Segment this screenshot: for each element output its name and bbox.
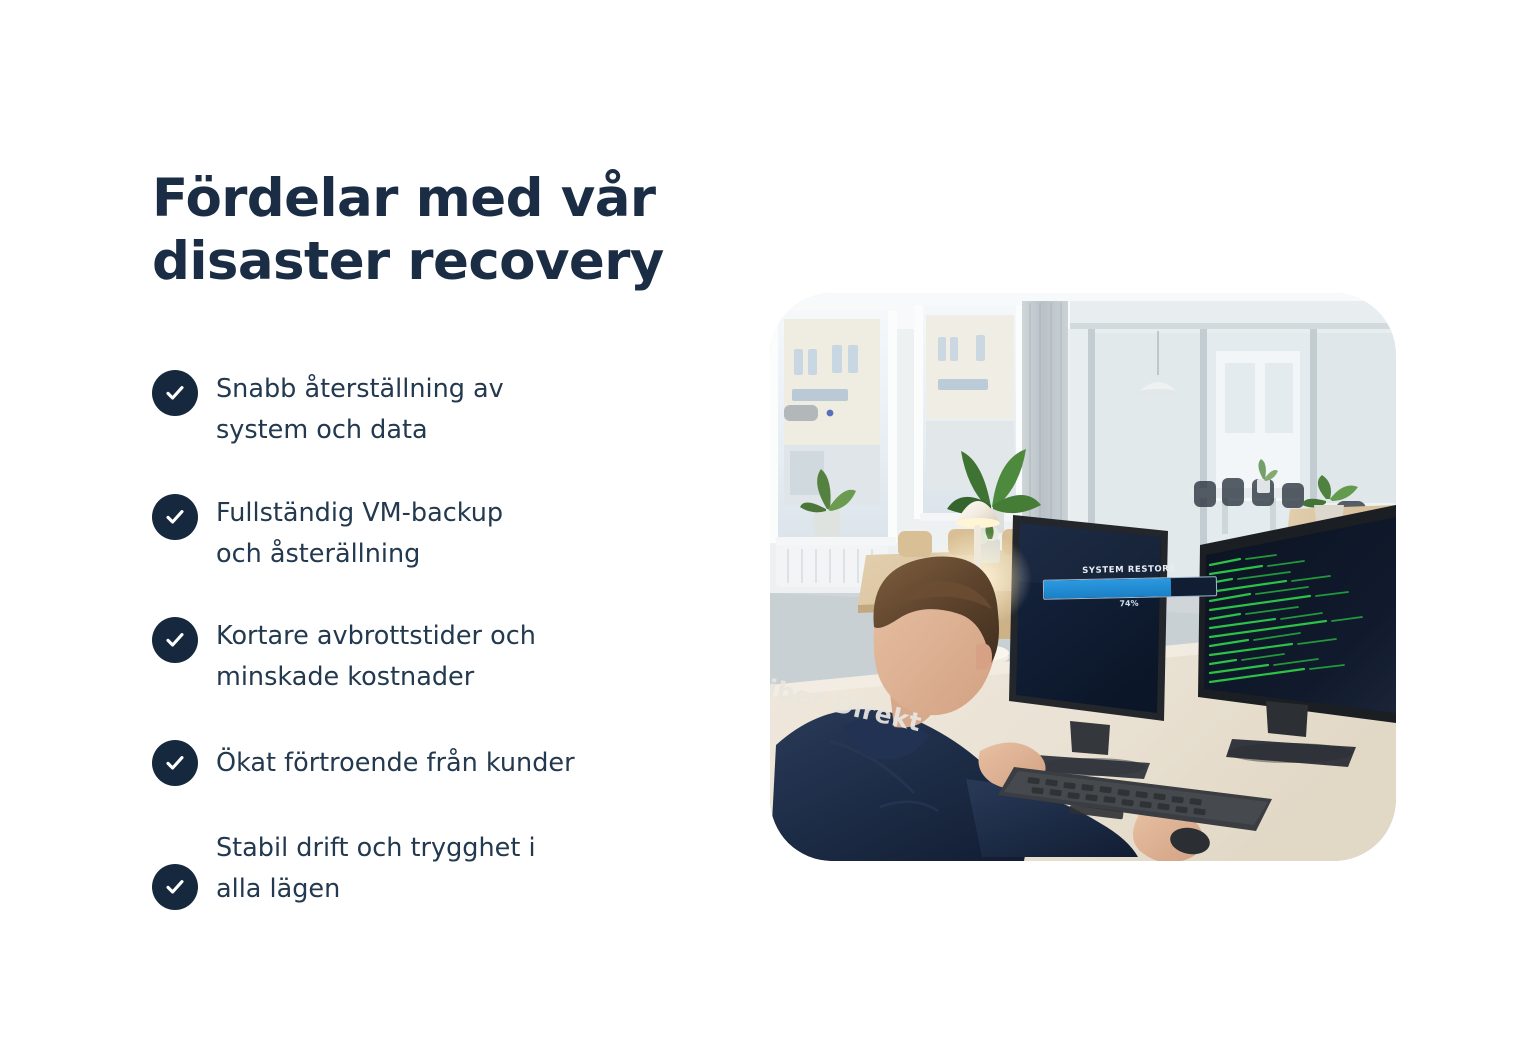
benefit-label: Stabil drift och trygghet i alla lägen — [216, 827, 536, 911]
check-circle-icon — [152, 740, 198, 786]
list-item: Kortare avbrottstider och minskade kostn… — [152, 615, 712, 699]
list-item: Ökat förtroende från kunder — [152, 739, 712, 787]
benefit-label: Ökat förtroende från kunder — [216, 742, 575, 784]
check-circle-icon — [152, 617, 198, 663]
benefits-list: Snabb återställning av system och data F… — [152, 368, 712, 910]
page-title: Fördelar med vår disaster recovery — [152, 168, 712, 293]
benefit-label: Fullständig VM-backup och åsterällning — [216, 492, 503, 576]
check-circle-icon — [152, 370, 198, 416]
hero-photo: SYSTEM RESTORE 74% iber Direkt — [770, 293, 1396, 861]
list-item: Fullständig VM-backup och åsterällning — [152, 492, 712, 576]
list-item: Stabil drift och trygghet i alla lägen — [152, 827, 712, 911]
office-photo-illustration — [770, 293, 1396, 861]
check-circle-icon — [152, 494, 198, 540]
content-column: Fördelar med vår disaster recovery Snabb… — [152, 168, 712, 293]
benefit-label: Snabb återställning av system och data — [216, 368, 504, 452]
list-item: Snabb återställning av system och data — [152, 368, 712, 452]
benefit-label: Kortare avbrottstider och minskade kostn… — [216, 615, 536, 699]
check-circle-icon — [152, 864, 198, 910]
slide-root: Fördelar med vår disaster recovery Snabb… — [0, 0, 1533, 1040]
